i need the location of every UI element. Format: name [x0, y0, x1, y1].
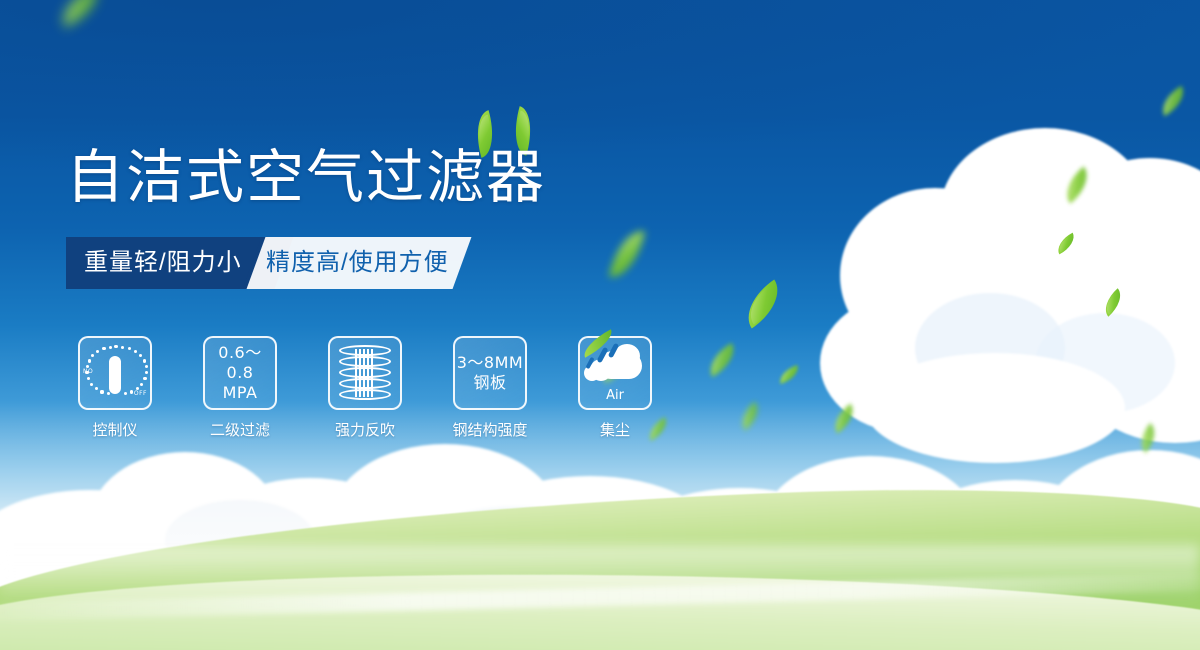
air-label: Air	[584, 388, 646, 403]
leaf-decoration	[1058, 166, 1097, 203]
feature-label: 集尘	[577, 419, 653, 440]
steel-plate-text-icon: 3～8MM 钢板	[457, 353, 523, 393]
pressure-unit: MPA	[205, 383, 275, 403]
page-title: 自洁式空气过滤器	[66, 146, 546, 208]
feature-item-blowback[interactable]: 强力反吹	[328, 336, 404, 440]
leaf-decoration	[736, 280, 790, 329]
leaf-decoration	[735, 402, 765, 431]
feature-label: 强力反吹	[327, 419, 403, 440]
subtitle-bar: 重量轻/阻力小 精度高/使用方便	[66, 237, 462, 289]
subtitle-right-text: 精度高/使用方便	[266, 237, 449, 289]
leaf-decoration	[1134, 423, 1163, 453]
cloud-air-icon: Air	[584, 345, 646, 401]
gauge-off-label: OFF	[134, 390, 147, 397]
grass-hill-sheen	[0, 545, 1200, 605]
leaf-decoration	[702, 343, 741, 377]
gauge-needle	[109, 356, 121, 394]
gauge-no-label: NO	[83, 368, 93, 375]
feature-icon-box: 0.6～0.8 MPA	[203, 336, 277, 410]
cumulus-cloud-large	[820, 118, 1200, 448]
leaf-decoration	[1098, 288, 1127, 317]
feature-label: 控制仪	[77, 419, 153, 440]
subtitle-left-text: 重量轻/阻力小	[84, 237, 242, 289]
leaf-decoration	[1053, 233, 1079, 255]
leaf-decoration	[609, 226, 645, 282]
feature-icon-box	[328, 336, 402, 410]
filter-cartridge-icon	[339, 345, 391, 401]
gauge-dial-icon: NO OFF	[84, 342, 146, 404]
leaf-decoration	[55, 0, 106, 27]
grass-hill-front	[0, 561, 1200, 650]
feature-item-control[interactable]: NO OFF 控制仪	[78, 336, 154, 440]
feature-item-steel[interactable]: 3～8MM 钢板 钢结构强度	[453, 336, 529, 440]
product-banner: 自洁式空气过滤器 重量轻/阻力小 精度高/使用方便	[0, 0, 1200, 650]
feature-icon-box: 3～8MM 钢板	[453, 336, 527, 410]
steel-thickness: 3～8MM	[457, 353, 523, 373]
feature-icon-box: NO OFF	[78, 336, 152, 410]
pressure-range: 0.6～0.8	[205, 343, 275, 383]
feature-item-dust[interactable]: Air 集尘	[578, 336, 654, 440]
leaf-decoration	[828, 404, 861, 434]
feature-item-filter-stage[interactable]: 0.6～0.8 MPA 二级过滤	[203, 336, 279, 440]
feature-icon-box: Air	[578, 336, 652, 410]
pressure-text-icon: 0.6～0.8 MPA	[205, 343, 275, 403]
feature-label: 钢结构强度	[452, 419, 528, 440]
leaf-decoration	[777, 365, 802, 384]
cumulus-cloud-band	[0, 430, 1200, 610]
feature-label: 二级过滤	[202, 419, 278, 440]
leaf-decoration	[1156, 86, 1191, 117]
grass-path-streak	[0, 572, 1200, 622]
grass-hill-back	[0, 473, 1200, 650]
steel-material: 钢板	[457, 373, 523, 393]
